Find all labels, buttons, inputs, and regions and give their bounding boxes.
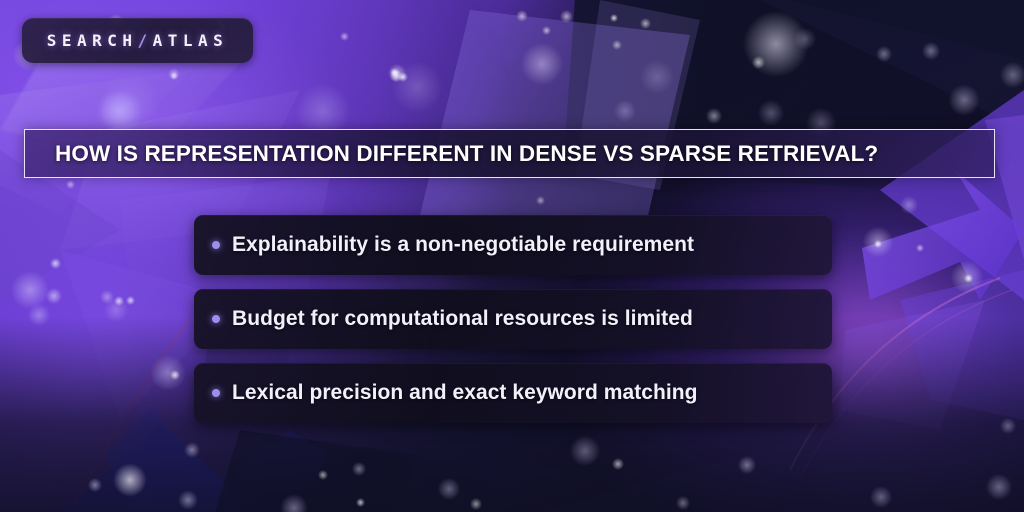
bullet-card-label: Lexical precision and exact keyword matc… [232,381,698,405]
logo-text-left: SEARCH [47,31,138,50]
bullet-card[interactable]: Lexical precision and exact keyword matc… [194,363,832,423]
page-title: HOW IS REPRESENTATION DIFFERENT IN DENSE… [55,141,878,167]
bullet-card-list: Explainability is a non-negotiable requi… [194,215,832,437]
bullet-card-label: Budget for computational resources is li… [232,307,693,331]
title-banner: HOW IS REPRESENTATION DIFFERENT IN DENSE… [24,129,995,178]
bullet-card[interactable]: Budget for computational resources is li… [194,289,832,349]
bullet-dot-icon [212,241,220,249]
searchatlas-logo-badge[interactable]: SEARCH/ATLAS [22,18,253,63]
slide-canvas: SEARCH/ATLAS HOW IS REPRESENTATION DIFFE… [0,0,1024,512]
logo-text-right: ATLAS [153,31,229,50]
bullet-dot-icon [212,315,220,323]
logo-separator: / [137,31,152,50]
bullet-dot-icon [212,389,220,397]
bullet-card[interactable]: Explainability is a non-negotiable requi… [194,215,832,275]
bullet-card-label: Explainability is a non-negotiable requi… [232,233,694,257]
logo-text: SEARCH/ATLAS [47,31,229,50]
